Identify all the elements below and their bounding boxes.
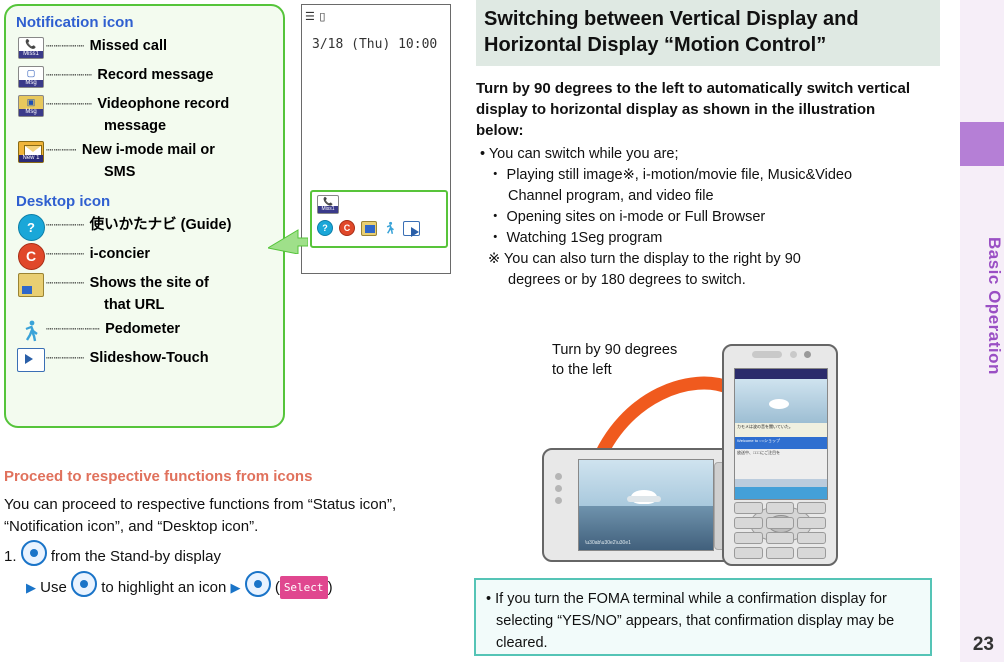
- legend-label-cont: that URL: [104, 297, 273, 314]
- icon-legend-box: Notification icon 📞Miss1 ┈┈┈┈┈ Missed ca…: [4, 4, 285, 428]
- phone-horizontal-screen: \u30ab\u30e2\u30e1: [578, 459, 714, 551]
- callout-arrow-icon: [268, 228, 308, 254]
- multi-cursor-key-icon: [71, 571, 97, 597]
- center-key-icon: [21, 540, 47, 566]
- slideshow-touch-icon: [16, 348, 46, 372]
- legend-dots: ┈┈┈┈┈: [46, 244, 85, 261]
- missed-call-icon-label: Miss1: [19, 51, 43, 58]
- new-imode-mail-icon-label: New 1: [19, 155, 43, 162]
- legend-row: ▢Msg ┈┈┈┈┈┈ Record message: [16, 65, 273, 89]
- phone-horizontal: \u30ab\u30e2\u30e1: [542, 448, 746, 562]
- legend-row: 📞Miss1 ┈┈┈┈┈ Missed call: [16, 36, 273, 60]
- legend-dots: ┈┈┈┈┈┈: [46, 65, 92, 82]
- legend-row: C ┈┈┈┈┈ i-concier: [16, 244, 273, 268]
- site-url-icon: [16, 273, 46, 297]
- slideshow-touch-icon: [403, 221, 420, 236]
- i-concier-icon: C: [339, 220, 355, 236]
- section-title: Proceed to respective functions from ico…: [4, 468, 312, 485]
- legend-row: ┈┈┈┈┈ Slideshow-Touch: [16, 348, 273, 372]
- lead-paragraph: Turn by 90 degrees to the left to automa…: [476, 78, 926, 141]
- legend-row: ┈┈┈┈┈ Shows the site of: [16, 273, 273, 297]
- site-url-icon: [361, 221, 377, 236]
- list-item: degrees or by 180 degrees to switch.: [480, 270, 940, 291]
- legend-label: Shows the site of: [90, 273, 209, 292]
- legend-dots: ┈┈┈┈┈┈: [46, 94, 92, 111]
- select-paren-close: ): [328, 579, 333, 596]
- legend-label: Pedometer: [105, 319, 180, 338]
- legend-dots: ┈┈┈┈┈: [46, 273, 85, 290]
- select-softkey-label: Select: [280, 576, 328, 600]
- list-item: • You can switch while you are;: [480, 144, 940, 165]
- phone-vertical: カモメは波の音を聞いていた。 Welcome to ○○ショップ 放送中、□□□…: [722, 344, 838, 566]
- bullet-list: • You can switch while you are; ・ Playin…: [480, 144, 940, 291]
- step-2-text-b: to highlight an icon: [101, 579, 226, 596]
- left-paragraph: You can proceed to respective functions …: [4, 494, 454, 537]
- legend-dots: ┈┈┈┈┈: [46, 348, 85, 365]
- phone-caption-1: カモメは波の音を聞いていた。: [735, 423, 827, 437]
- list-item: ・ Watching 1Seg program: [480, 228, 940, 249]
- guide-navi-glyph: ?: [18, 214, 45, 241]
- step-2: ▶ Use to highlight an icon ▶ (Select): [4, 571, 454, 600]
- record-message-icon-label: Msg: [19, 80, 43, 87]
- list-item: ・ Opening sites on i-mode or Full Browse…: [480, 207, 940, 228]
- step-1-text: from the Stand-by display: [51, 548, 221, 565]
- status-bar: ☰ ▯: [302, 5, 450, 25]
- legend-row: New 1 ┈┈┈┈ New i-mode mail or: [16, 140, 273, 164]
- guide-navi-icon: ?: [16, 215, 46, 239]
- left-body-text: You can proceed to respective functions …: [4, 494, 454, 599]
- list-item: ※ You can also turn the display to the r…: [480, 249, 940, 270]
- legend-row: ▣Msg ┈┈┈┈┈┈ Videophone record: [16, 94, 273, 118]
- new-imode-mail-icon: New 1: [16, 140, 46, 164]
- legend-label: i-concier: [90, 244, 150, 263]
- chapter-tab-label: Basic Operation: [960, 176, 1004, 436]
- videophone-record-message-icon: ▣Msg: [16, 94, 46, 118]
- legend-label: Videophone record: [97, 94, 229, 113]
- legend-row: ? ┈┈┈┈┈ 使いかたナビ (Guide): [16, 215, 273, 239]
- phone-keypad: [734, 502, 826, 558]
- standby-desktop-icon-row: ? C: [312, 214, 446, 236]
- record-message-icon: ▢Msg: [16, 65, 46, 89]
- illustration: Turn by 90 degrees to the left \u30ab\u3…: [468, 330, 960, 580]
- legend-dots: ┈┈┈┈┈: [46, 36, 85, 53]
- phone-vertical-screen: カモメは波の音を聞いていた。 Welcome to ○○ショップ 放送中、□□□…: [734, 368, 828, 500]
- i-concier-glyph: C: [18, 243, 45, 270]
- battery-icon: ▯: [319, 11, 325, 23]
- phone-caption-2: Welcome to ○○ショップ: [735, 437, 827, 449]
- phone-caption-3: 放送中、□□□にご注目を: [735, 449, 827, 479]
- notification-icon-heading: Notification icon: [16, 14, 273, 31]
- page-title: Switching between Vertical Display and H…: [476, 0, 940, 66]
- signal-icon: ☰: [305, 11, 315, 23]
- standby-missed-call-label: Miss1: [318, 206, 338, 213]
- list-item: Channel program, and video file: [480, 186, 940, 207]
- legend-dots: ┈┈┈┈┈: [46, 215, 85, 232]
- note-text: • If you turn the FOMA terminal while a …: [486, 588, 920, 654]
- legend-label: Missed call: [90, 36, 167, 55]
- legend-label-cont: message: [104, 118, 273, 135]
- chapter-tab-band: [960, 122, 1004, 166]
- select-key-icon: [245, 571, 271, 597]
- desktop-icon-heading: Desktop icon: [16, 193, 273, 210]
- left-column: Notification icon 📞Miss1 ┈┈┈┈┈ Missed ca…: [0, 0, 468, 662]
- note-box: • If you turn the FOMA terminal while a …: [474, 578, 932, 656]
- standby-icon-area: 📞Miss1 ? C: [310, 190, 448, 248]
- guide-navi-icon: ?: [317, 220, 333, 236]
- step-number: 1.: [4, 548, 17, 565]
- turn-instruction-line1: Turn by 90 degrees: [552, 340, 677, 360]
- legend-label: 使いかたナビ (Guide): [90, 215, 232, 234]
- missed-call-icon: 📞Miss1: [16, 36, 46, 60]
- step-arrow-icon: ▶: [26, 580, 36, 595]
- step-1: 1. from the Stand-by display: [4, 540, 454, 568]
- legend-label-cont: SMS: [104, 164, 273, 181]
- step-2-text-a: Use: [40, 579, 67, 596]
- chapter-tab: Basic Operation 23: [960, 0, 1004, 662]
- list-item: ・ Playing still image※, i-motion/movie f…: [480, 165, 940, 186]
- legend-label: New i-mode mail or: [82, 140, 215, 159]
- legend-dots: ┈┈┈┈┈┈┈: [46, 319, 100, 336]
- pedometer-icon: [383, 221, 397, 235]
- standby-display-sample: ☰ ▯ 3/18 (Thu) 10:00 📞Miss1 ? C: [301, 4, 451, 274]
- legend-label: Record message: [97, 65, 213, 84]
- legend-dots: ┈┈┈┈: [46, 140, 77, 157]
- i-concier-icon: C: [16, 244, 46, 268]
- legend-label: Slideshow-Touch: [90, 348, 209, 367]
- pedometer-glyph: [19, 319, 43, 343]
- step-arrow-icon-2: ▶: [230, 580, 240, 595]
- videophone-record-message-icon-label: Msg: [19, 109, 43, 116]
- page-number: 23: [973, 634, 994, 656]
- pedometer-icon: [16, 319, 46, 343]
- standby-clock: 3/18 (Thu) 10:00: [312, 37, 450, 52]
- legend-row: ┈┈┈┈┈┈┈ Pedometer: [16, 319, 273, 343]
